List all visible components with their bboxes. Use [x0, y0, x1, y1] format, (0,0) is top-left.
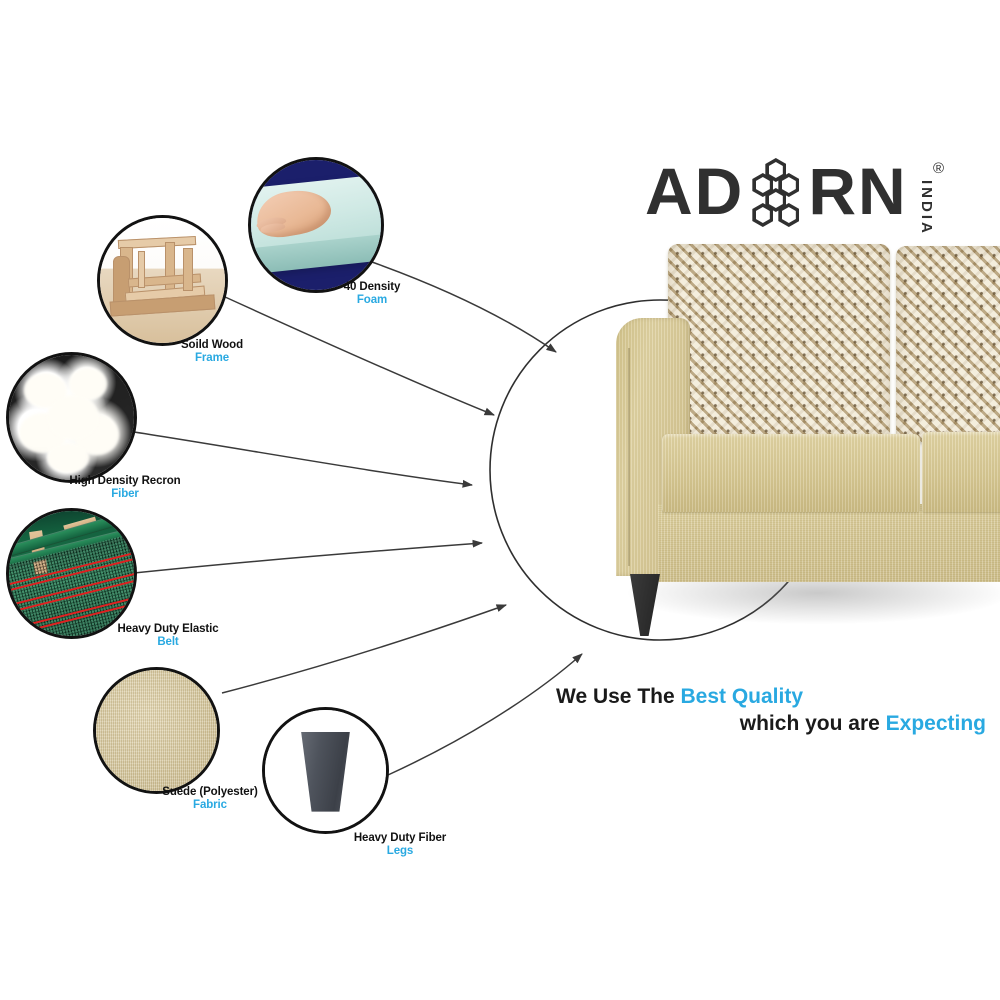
- logo-country-label: INDIA: [918, 180, 935, 236]
- infographic-canvas: Soild Wood Frame 40 Density Foam: [0, 0, 1000, 1000]
- brand-logo: AD RN INDIA ®: [645, 158, 965, 238]
- callout-subtitle: Belt: [107, 636, 229, 649]
- solid-wood-frame-caption: Soild Wood Frame: [152, 339, 272, 365]
- back-cushion-left: [668, 244, 890, 440]
- arrow-belt: [134, 543, 482, 573]
- seat-cushion-right: [922, 432, 1000, 512]
- sofa-leg-icon: [262, 707, 389, 834]
- callout-title: Soild Wood: [152, 339, 272, 352]
- back-cushion-right: [896, 246, 1000, 442]
- suede-fabric-icon: [93, 667, 220, 794]
- seat-cushion-left: [662, 434, 920, 512]
- arrow-legs: [388, 654, 582, 775]
- recron-fiber-caption: High Density Recron Fiber: [62, 475, 188, 501]
- tagline-line-2: which you are Expecting: [556, 711, 986, 738]
- callout-title: Heavy Duty Fiber: [340, 832, 460, 845]
- callout-subtitle: Legs: [340, 845, 460, 858]
- solid-wood-frame-icon: [97, 215, 228, 346]
- sofa-leg-caption: Heavy Duty Fiber Legs: [340, 832, 460, 858]
- elastic-belt-caption: Heavy Duty Elastic Belt: [107, 623, 229, 649]
- tagline-block: We Use The Best Quality which you are Ex…: [556, 684, 986, 738]
- sofa-base: [658, 504, 1000, 582]
- arm-piping: [628, 348, 630, 566]
- honeycomb-icon: [744, 158, 808, 224]
- tagline-line-1: We Use The Best Quality: [556, 684, 986, 711]
- arrow-fabric: [222, 605, 506, 693]
- logo-letters-right: RN: [808, 158, 907, 224]
- tagline-line2-plain: which you are: [740, 712, 886, 735]
- registered-trademark-icon: ®: [933, 160, 944, 177]
- sofa-image: [610, 232, 1000, 642]
- foam-caption: 40 Density Foam: [312, 281, 432, 307]
- callout-title: Heavy Duty Elastic: [107, 623, 229, 636]
- callout-subtitle: Foam: [312, 294, 432, 307]
- elastic-belt-icon: [6, 508, 137, 639]
- recron-fiber-icon: [6, 352, 137, 483]
- callout-title: High Density Recron: [62, 475, 188, 488]
- callout-title: Suede (Polyester): [148, 786, 272, 799]
- foam-icon: [248, 157, 384, 293]
- tagline-line1-plain: We Use The: [556, 685, 680, 708]
- tagline-line1-highlight: Best Quality: [680, 685, 803, 708]
- callout-subtitle: Frame: [152, 352, 272, 365]
- tagline-line2-highlight: Expecting: [886, 712, 986, 735]
- callout-subtitle: Fiber: [62, 488, 188, 501]
- suede-fabric-caption: Suede (Polyester) Fabric: [148, 786, 272, 812]
- callout-subtitle: Fabric: [148, 799, 272, 812]
- logo-letters-left: AD: [645, 158, 744, 224]
- callout-title: 40 Density: [312, 281, 432, 294]
